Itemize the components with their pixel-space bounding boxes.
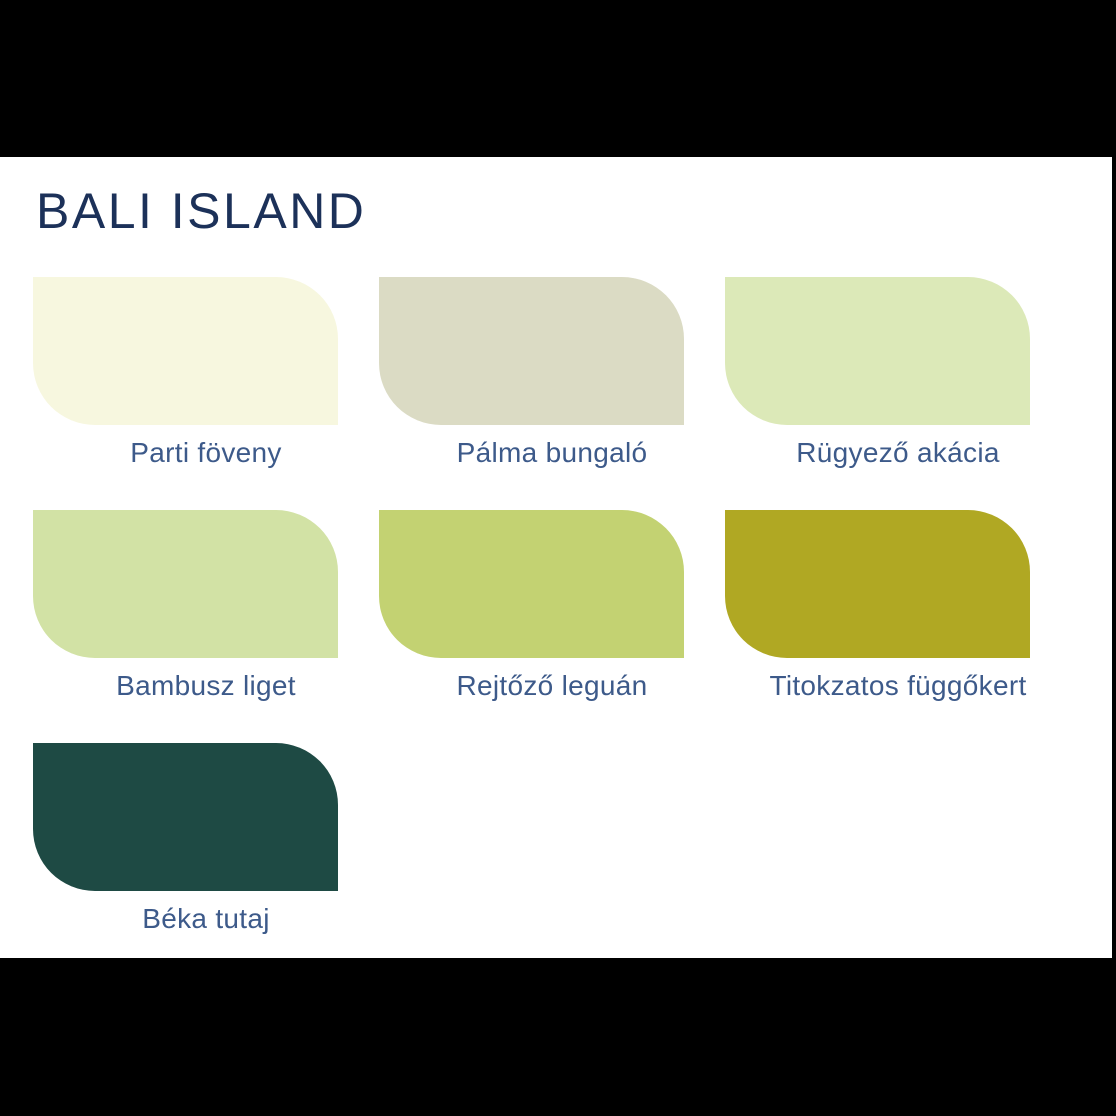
page-title: BALI ISLAND: [36, 182, 366, 240]
color-chip[interactable]: [33, 510, 338, 658]
swatch-item-palma-bungalo[interactable]: Pálma bungaló: [379, 277, 725, 510]
color-chip[interactable]: [379, 510, 684, 658]
swatch-item-rugyezo-akacia[interactable]: Rügyező akácia: [725, 277, 1071, 510]
color-name-label: Titokzatos függőkert: [746, 669, 1051, 703]
color-name-label: Bambusz liget: [54, 669, 359, 703]
color-chip[interactable]: [33, 743, 338, 891]
swatch-item-titokzatos-fuggokert[interactable]: Titokzatos függőkert: [725, 510, 1071, 743]
color-chip[interactable]: [33, 277, 338, 425]
palette-card: BALI ISLAND Parti föveny Pálma bungaló R…: [0, 157, 1112, 958]
swatch-item-parti-foveny[interactable]: Parti föveny: [33, 277, 379, 510]
color-name-label: Parti föveny: [54, 436, 359, 470]
poster-page: BALI ISLAND Parti föveny Pálma bungaló R…: [0, 0, 1116, 1116]
color-name-label: Béka tutaj: [54, 902, 359, 936]
color-chip[interactable]: [725, 277, 1030, 425]
swatch-item-rejtozo-leguan[interactable]: Rejtőző leguán: [379, 510, 725, 743]
color-chip[interactable]: [725, 510, 1030, 658]
color-name-label: Rejtőző leguán: [400, 669, 705, 703]
swatch-item-bambusz-liget[interactable]: Bambusz liget: [33, 510, 379, 743]
color-chip[interactable]: [379, 277, 684, 425]
color-name-label: Pálma bungaló: [400, 436, 705, 470]
swatch-grid: Parti föveny Pálma bungaló Rügyező akáci…: [33, 277, 1073, 976]
color-name-label: Rügyező akácia: [746, 436, 1051, 470]
swatch-item-beka-tutaj[interactable]: Béka tutaj: [33, 743, 379, 976]
